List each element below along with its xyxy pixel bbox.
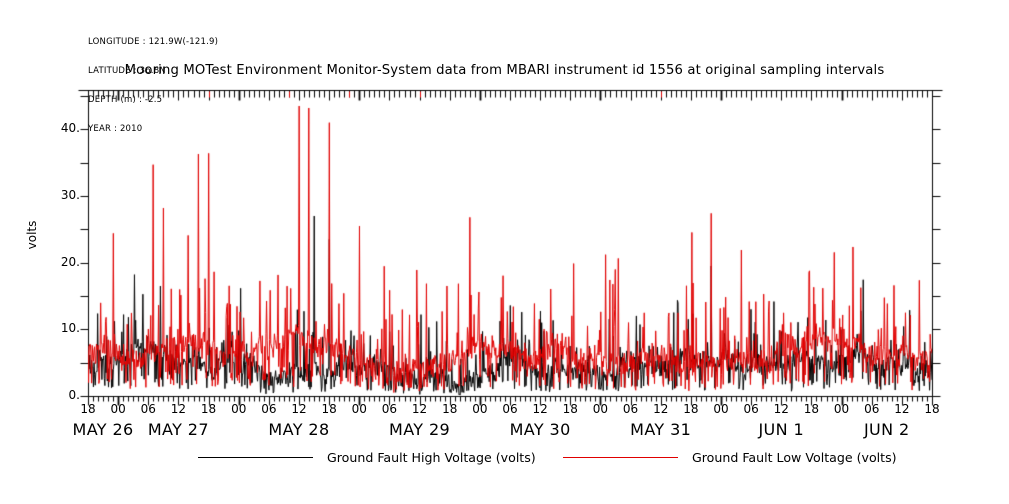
x-tick-label: 18 — [912, 402, 952, 416]
legend-entry: Ground Fault High Voltage (volts) — [198, 446, 536, 468]
y-tick-label: 30. — [40, 188, 80, 202]
x-day-label: MAY 28 — [229, 420, 369, 439]
legend-label: Ground Fault High Voltage (volts) — [327, 450, 536, 465]
legend-entry: Ground Fault Low Voltage (volts) — [563, 446, 897, 468]
y-tick-label: 10. — [40, 321, 80, 335]
x-day-label: MAY 31 — [591, 420, 731, 439]
legend-swatch — [563, 457, 678, 458]
legend-swatch — [198, 457, 313, 458]
x-day-label: JUN 2 — [817, 420, 957, 439]
legend-label: Ground Fault Low Voltage (volts) — [692, 450, 897, 465]
chart-legend: Ground Fault High Voltage (volts)Ground … — [0, 446, 1009, 470]
y-tick-label: 20. — [40, 255, 80, 269]
x-day-label: MAY 30 — [470, 420, 610, 439]
x-day-label: MAY 27 — [108, 420, 248, 439]
y-axis-title: volts — [25, 195, 39, 275]
x-day-label: MAY 29 — [350, 420, 490, 439]
chart-page: LONGITUDE : 121.9W(-121.9) LATITUDE : 36… — [0, 0, 1009, 504]
y-tick-label: 40. — [40, 121, 80, 135]
y-tick-label: 0. — [40, 388, 80, 402]
